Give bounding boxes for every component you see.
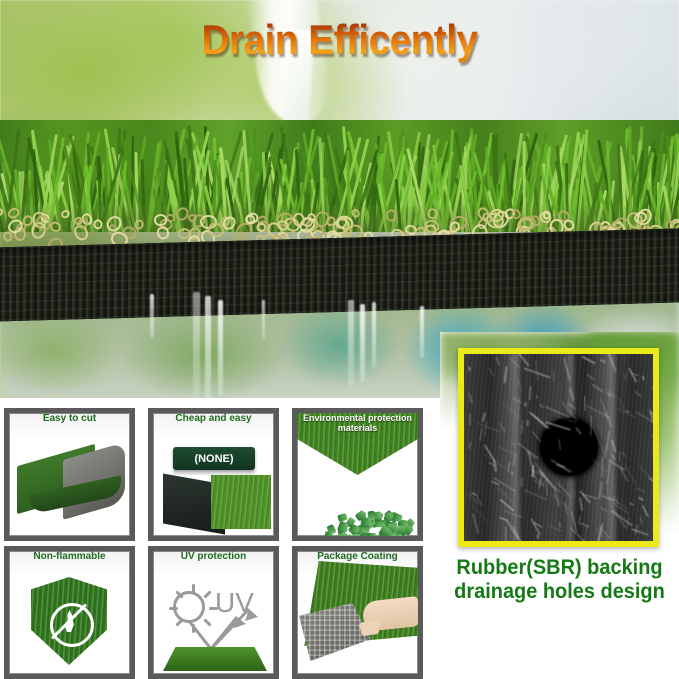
page-title: Drain Efficently: [27, 16, 652, 64]
caption-line-1: Rubber(SBR) backing: [446, 556, 673, 580]
cell-label: Environmental protection materials: [292, 413, 423, 433]
cell-label: Easy to cut: [4, 413, 135, 424]
cell-label: Cheap and easy: [148, 413, 279, 424]
feature-cell-cheap-and-easy[interactable]: (NONE) Cheap and easy: [148, 408, 279, 541]
turf-crosssection-icon: [0, 120, 679, 310]
feature-cell-easy-to-cut[interactable]: Easy to cut: [4, 408, 135, 541]
rubber-panel-caption: Rubber(SBR) backing drainage holes desig…: [446, 556, 673, 603]
cell-label: Non-flammable: [4, 551, 135, 562]
cell-label: UV protection: [148, 551, 279, 562]
caption-line-2: drainage holes design: [446, 580, 673, 604]
rubber-backing-panel: Rubber(SBR) backing drainage holes desig…: [440, 332, 679, 679]
sun-uv-reflect-icon: UV: [153, 551, 274, 674]
infographic-page: Drain Efficently Easy to cut: [0, 0, 679, 679]
turf-roll-icon: [9, 413, 130, 536]
price-sign-icon: (NONE): [153, 413, 274, 536]
hand-lifting-turf-icon: [297, 551, 418, 674]
rubber-backing-drain-hole-icon[interactable]: [458, 348, 659, 547]
feature-cell-environmental[interactable]: Environmental protection materials: [292, 408, 423, 541]
cell-label: Package Coating: [292, 551, 423, 562]
features-section: Easy to cut (NONE) Cheap and easy: [0, 398, 679, 679]
no-fire-shield-icon: [9, 551, 130, 674]
feature-cell-uv-protection[interactable]: UV UV protection: [148, 546, 279, 679]
feature-cell-package-coating[interactable]: Package Coating: [292, 546, 423, 679]
feature-cell-non-flammable[interactable]: Non-flammable: [4, 546, 135, 679]
feature-grid: Easy to cut (NONE) Cheap and easy: [4, 406, 428, 678]
none-sign-text: (NONE): [194, 453, 233, 465]
